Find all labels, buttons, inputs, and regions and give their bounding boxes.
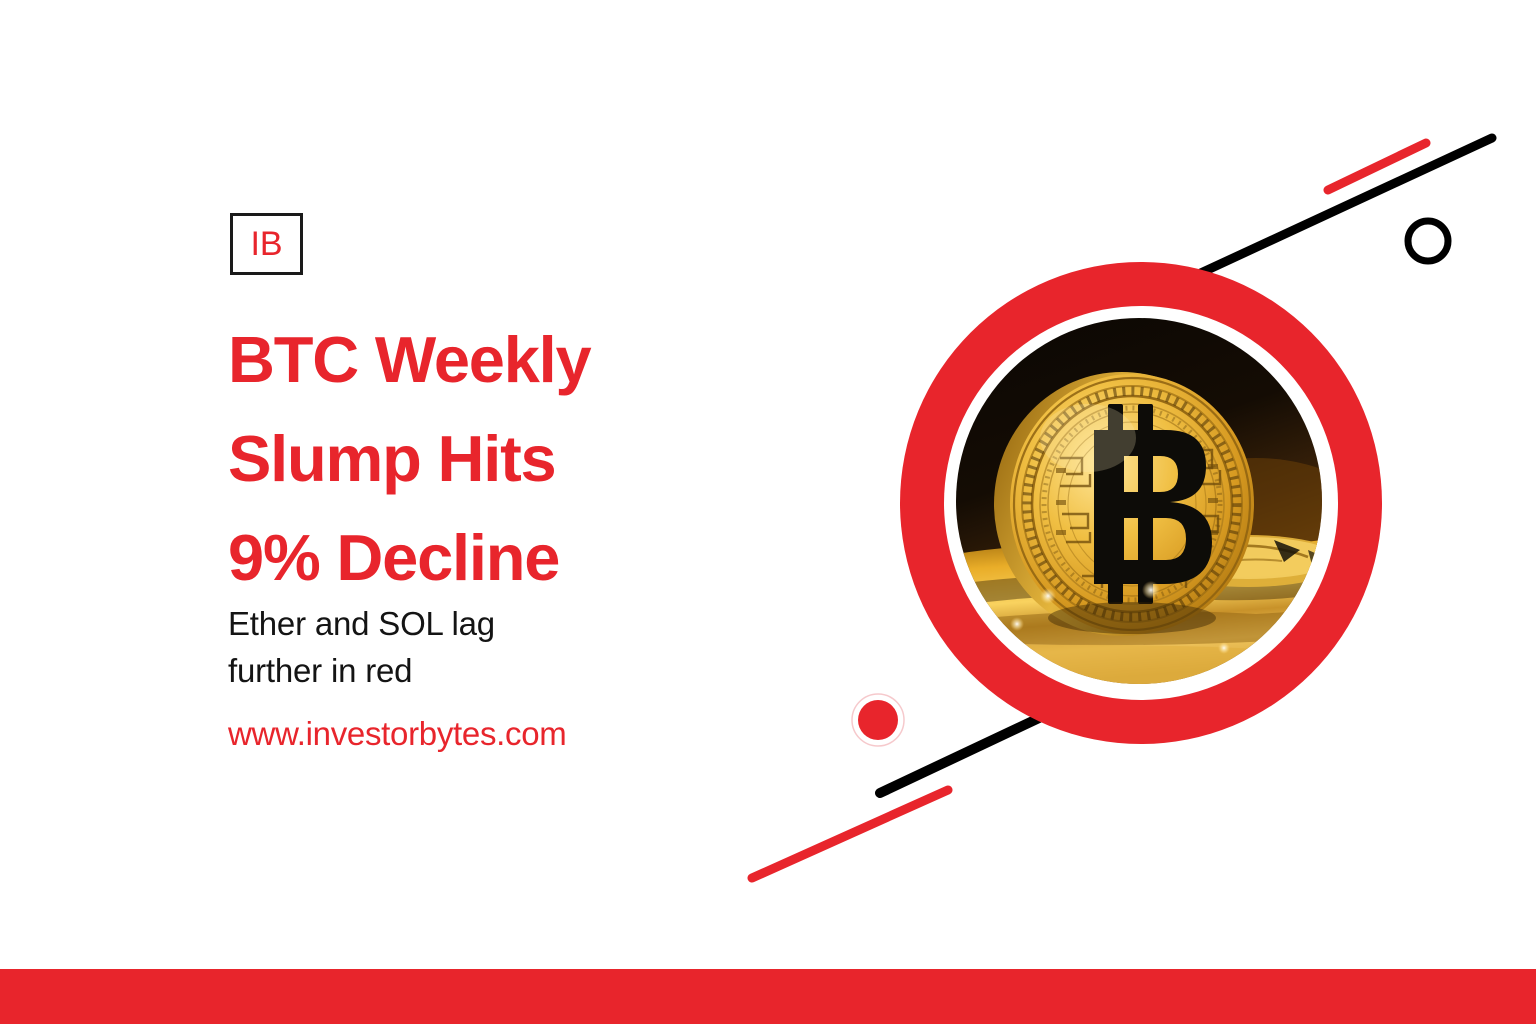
black-diagonal-line-top <box>1190 138 1492 278</box>
footer-bar <box>0 969 1536 1024</box>
headline-line-1: BTC Weekly <box>228 310 788 409</box>
red-diagonal-line-bottom <box>752 790 948 878</box>
social-card: IB BTC Weekly Slump Hits 9% Decline Ethe… <box>0 0 1536 1024</box>
headline-block: BTC Weekly Slump Hits 9% Decline <box>228 310 788 607</box>
headline-line-3: 9% Decline <box>228 508 788 607</box>
red-diagonal-line-top <box>1328 143 1426 190</box>
subtitle-line-2: further in red <box>228 647 748 694</box>
red-filled-dot <box>858 700 898 740</box>
brand-logo-initials: IB <box>250 227 282 261</box>
website-url[interactable]: www.investorbytes.com <box>228 715 566 753</box>
bitcoin-photo <box>956 318 1322 684</box>
brand-logo[interactable]: IB <box>230 213 303 275</box>
subtitle-line-1: Ether and SOL lag <box>228 600 748 647</box>
headline-line-2: Slump Hits <box>228 409 788 508</box>
black-circle-outline <box>1408 221 1448 261</box>
subtitle-block: Ether and SOL lag further in red <box>228 600 748 694</box>
